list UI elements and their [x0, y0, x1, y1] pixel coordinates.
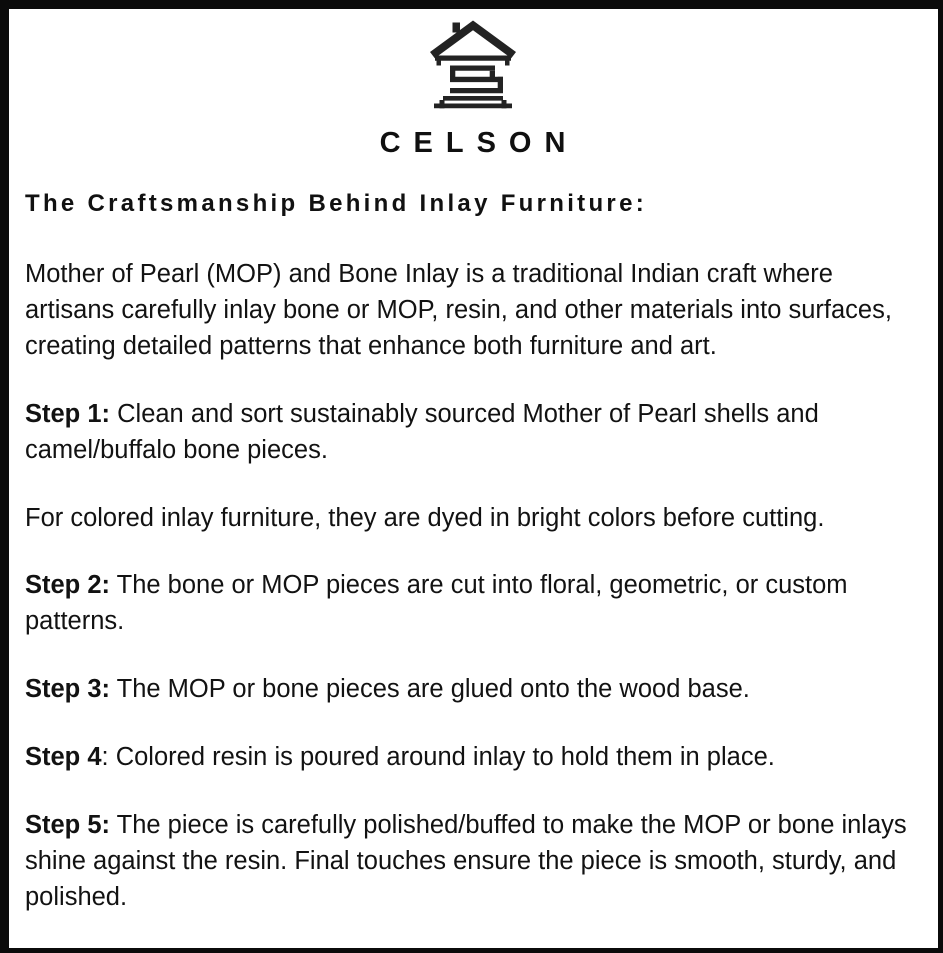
- brand-wordmark: CELSON: [16, 129, 929, 158]
- step-text: Clean and sort sustainably sourced Mothe…: [25, 400, 819, 464]
- step-label: Step 4: [25, 743, 102, 771]
- body-copy: Mother of Pearl (MOP) and Bone Inlay is …: [25, 256, 929, 915]
- step-label: Step 3:: [25, 675, 110, 703]
- infographic-card: CELSON The Craftsmanship Behind Inlay Fu…: [0, 0, 943, 953]
- step-paragraph: Step 1: Clean and sort sustainably sourc…: [25, 396, 907, 468]
- step-paragraph: Step 3: The MOP or bone pieces are glued…: [25, 671, 907, 707]
- step-paragraph: For colored inlay furniture, they are dy…: [25, 500, 907, 536]
- step-paragraph: Step 4: Colored resin is poured around i…: [25, 739, 907, 775]
- step-text: The MOP or bone pieces are glued onto th…: [110, 675, 750, 703]
- step-paragraph: Step 2: The bone or MOP pieces are cut i…: [25, 567, 907, 639]
- step-label: Step 5:: [25, 811, 110, 839]
- card-inner: CELSON The Craftsmanship Behind Inlay Fu…: [9, 9, 938, 948]
- step-label: Step 1:: [25, 400, 110, 428]
- step-text: The piece is carefully polished/buffed t…: [25, 811, 907, 911]
- step-text: For colored inlay furniture, they are dy…: [25, 504, 824, 532]
- page-title: The Craftsmanship Behind Inlay Furniture…: [25, 190, 929, 218]
- step-text: The bone or MOP pieces are cut into flor…: [25, 571, 848, 635]
- house-monogram-logo-icon: [427, 15, 519, 115]
- step-paragraph: Step 5: The piece is carefully polished/…: [25, 807, 907, 915]
- brand-block: CELSON: [16, 9, 929, 158]
- step-label: Step 2:: [25, 571, 110, 599]
- intro-paragraph: Mother of Pearl (MOP) and Bone Inlay is …: [25, 256, 907, 364]
- step-text: : Colored resin is poured around inlay t…: [102, 743, 775, 771]
